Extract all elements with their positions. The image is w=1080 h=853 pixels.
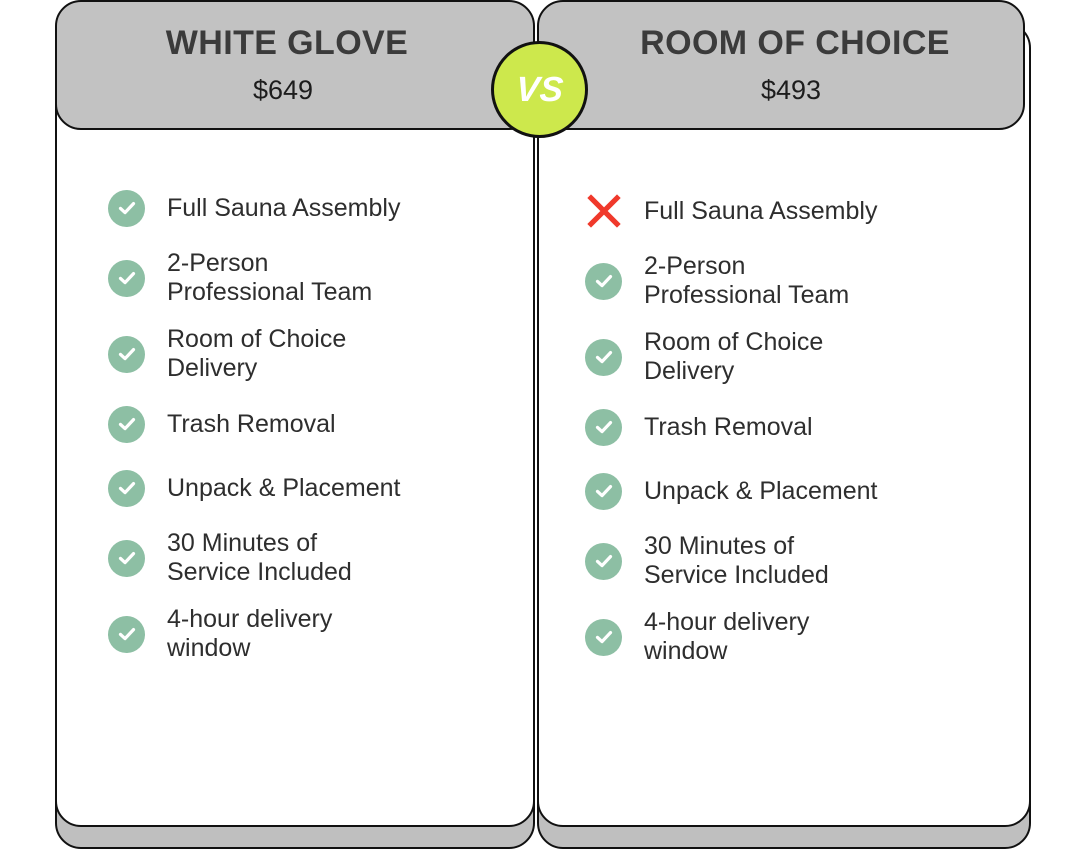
feature-label: 4-hour delivery window <box>167 605 332 663</box>
check-circle-icon <box>108 616 145 653</box>
feature-status-icon <box>585 409 622 446</box>
comparison-table: WHITE GLOVE $649 ROOM OF CHOICE $493 VS … <box>0 0 1080 853</box>
feature-label: Unpack & Placement <box>644 477 877 506</box>
feature-status-icon <box>585 619 622 656</box>
feature-row: Full Sauna Assembly <box>585 188 1079 234</box>
check-circle-icon <box>108 260 145 297</box>
plan-header-white-glove: WHITE GLOVE $649 <box>55 0 535 130</box>
feature-row: 30 Minutes of Service Included <box>108 529 588 587</box>
feature-status-icon <box>585 339 622 376</box>
check-circle-icon <box>108 470 145 507</box>
feature-status-icon <box>108 406 145 443</box>
feature-row: Room of Choice Delivery <box>585 328 1079 386</box>
check-circle-icon <box>108 540 145 577</box>
feature-status-icon <box>585 263 622 300</box>
feature-status-icon <box>108 616 145 653</box>
check-circle-icon <box>108 336 145 373</box>
check-circle-icon <box>585 263 622 300</box>
feature-row: Trash Removal <box>108 401 588 447</box>
feature-row: 4-hour delivery window <box>585 608 1079 666</box>
feature-label: Room of Choice Delivery <box>644 328 823 386</box>
feature-row: 2-Person Professional Team <box>108 249 588 307</box>
feature-row: 2-Person Professional Team <box>585 252 1079 310</box>
feature-row: 30 Minutes of Service Included <box>585 532 1079 590</box>
check-circle-icon <box>585 473 622 510</box>
feature-label: 2-Person Professional Team <box>167 249 372 307</box>
check-circle-icon <box>108 190 145 227</box>
feature-label: Unpack & Placement <box>167 474 400 503</box>
plan-price: $649 <box>253 77 313 104</box>
plan-header-room-of-choice: ROOM OF CHOICE $493 <box>537 0 1025 130</box>
plan-title: WHITE GLOVE <box>166 26 408 60</box>
feature-status-icon <box>585 193 622 230</box>
feature-status-icon <box>585 543 622 580</box>
feature-list-white-glove: Full Sauna Assembly2-Person Professional… <box>55 185 588 681</box>
check-circle-icon <box>585 543 622 580</box>
feature-label: 4-hour delivery window <box>644 608 809 666</box>
feature-label: Trash Removal <box>644 413 813 442</box>
feature-row: Trash Removal <box>585 404 1079 450</box>
feature-label: 30 Minutes of Service Included <box>167 529 352 587</box>
feature-label: Trash Removal <box>167 410 336 439</box>
feature-list-room-of-choice: Full Sauna Assembly2-Person Professional… <box>537 188 1079 684</box>
feature-row: 4-hour delivery window <box>108 605 588 663</box>
feature-row: Full Sauna Assembly <box>108 185 588 231</box>
feature-label: 30 Minutes of Service Included <box>644 532 829 590</box>
plan-title: ROOM OF CHOICE <box>640 26 950 60</box>
feature-status-icon <box>108 540 145 577</box>
feature-status-icon <box>585 473 622 510</box>
feature-status-icon <box>108 260 145 297</box>
check-circle-icon <box>585 619 622 656</box>
feature-row: Room of Choice Delivery <box>108 325 588 383</box>
check-circle-icon <box>585 339 622 376</box>
check-circle-icon <box>108 406 145 443</box>
feature-row: Unpack & Placement <box>108 465 588 511</box>
check-circle-icon <box>585 409 622 446</box>
vs-badge-label: VS <box>514 72 564 107</box>
feature-label: Full Sauna Assembly <box>644 197 877 226</box>
feature-status-icon <box>108 336 145 373</box>
feature-label: 2-Person Professional Team <box>644 252 849 310</box>
feature-status-icon <box>108 470 145 507</box>
feature-label: Room of Choice Delivery <box>167 325 346 383</box>
vs-badge: VS <box>491 41 588 138</box>
feature-label: Full Sauna Assembly <box>167 194 400 223</box>
feature-row: Unpack & Placement <box>585 468 1079 514</box>
plan-price: $493 <box>761 77 821 104</box>
feature-status-icon <box>108 190 145 227</box>
cross-icon <box>586 193 622 229</box>
